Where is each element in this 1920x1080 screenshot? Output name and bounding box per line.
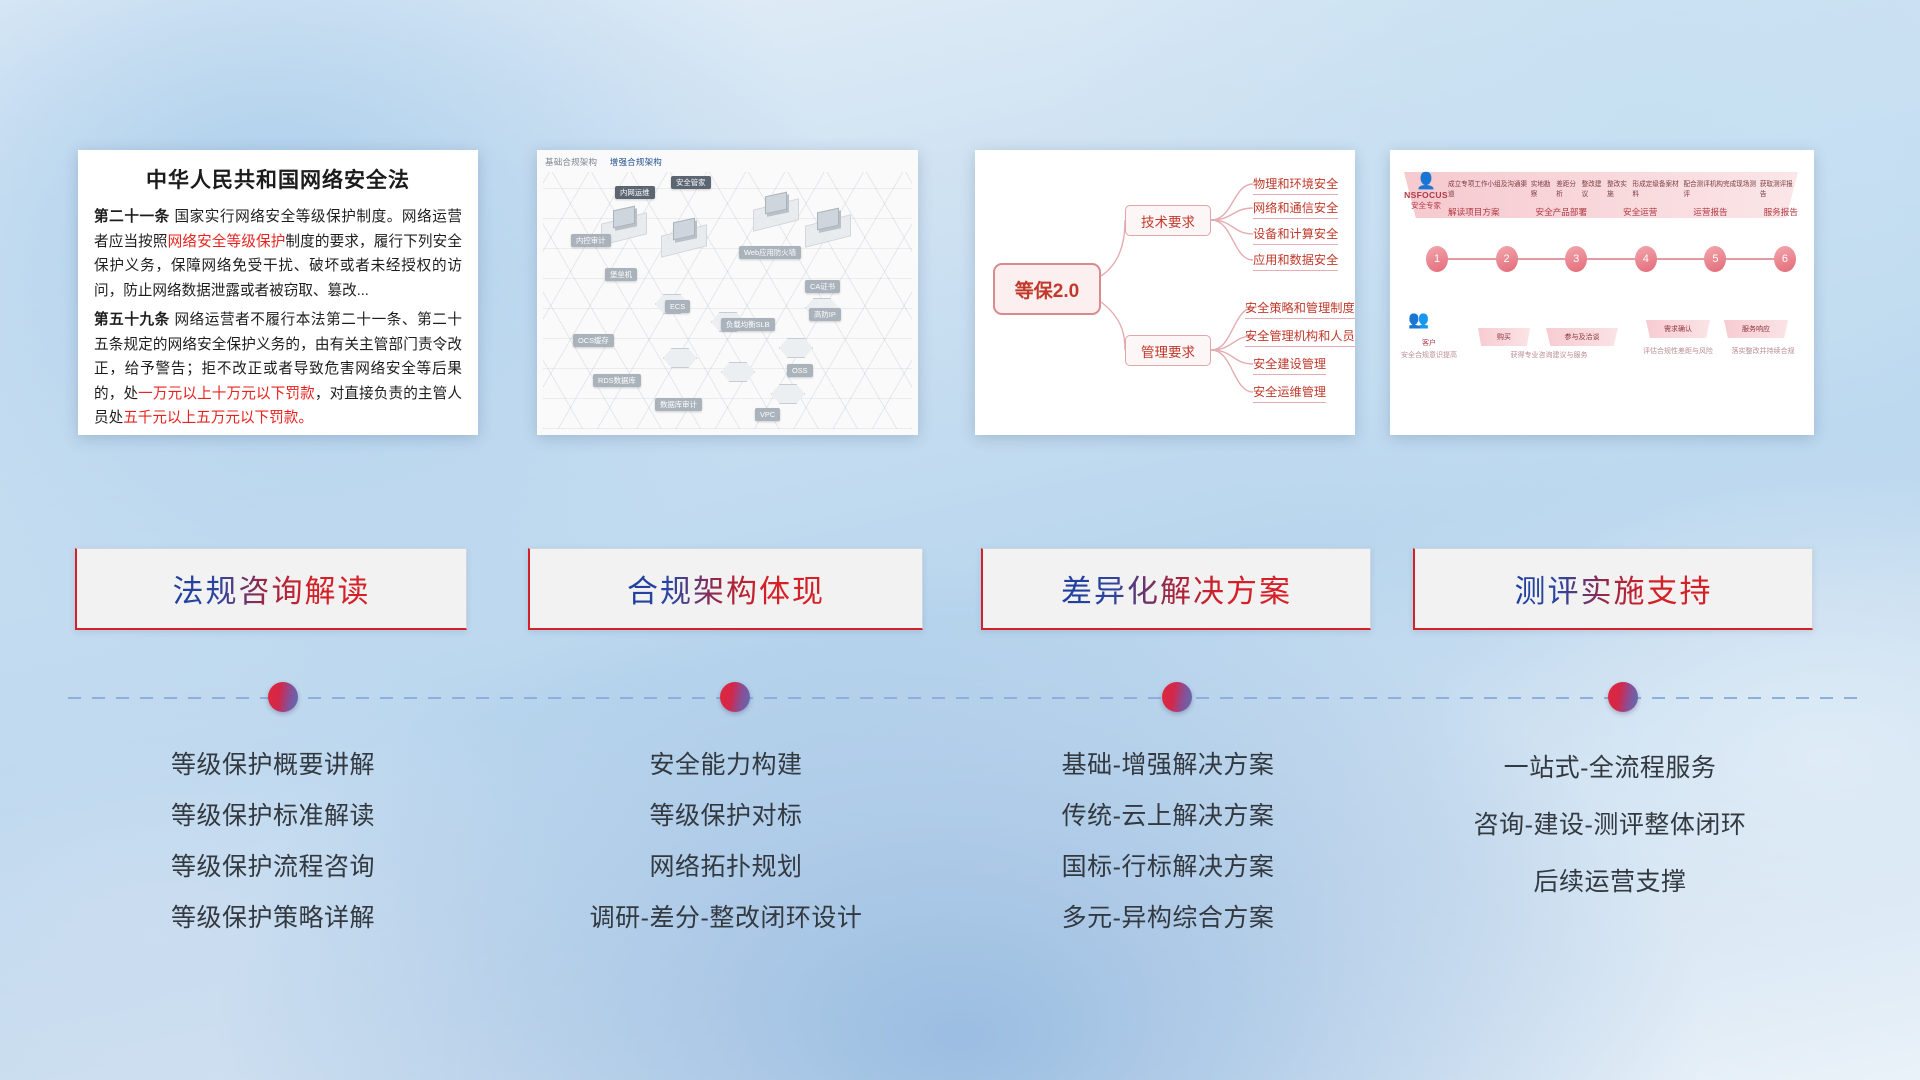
phase-label: 解读项目方案 — [1448, 206, 1500, 218]
node-label: 高防IP — [809, 308, 841, 321]
customer-role-note: 安全合规意识提高 — [1392, 350, 1466, 360]
banner-label: 合规架构体现 — [627, 566, 825, 611]
list-item: 后续运营支撑 — [1400, 854, 1820, 911]
mindmap-leaf: 安全建设管理 — [1253, 354, 1326, 375]
mindmap-leaf: 安全策略和管理制度 — [1245, 298, 1355, 319]
brand-subtitle: 安全专家 — [1404, 200, 1448, 211]
node-label: VPC — [755, 408, 780, 421]
band-item: 实地勘察 — [1531, 178, 1556, 198]
band-item: 获取测评报告 — [1760, 178, 1798, 198]
list-item: 基础-增强解决方案 — [963, 740, 1373, 791]
banner-label: 差异化解决方案 — [1061, 566, 1292, 611]
roadmap-band-items: 成立专项工作小组及沟通渠道 实地勘察 差距分析 整改建议 整改实施 形成定级备案… — [1448, 178, 1798, 198]
roadmap-step-dot: 3 — [1565, 246, 1587, 272]
node-label: ECS — [665, 300, 690, 313]
timeline-dot-4[interactable] — [1608, 682, 1638, 712]
card-cybersecurity-law[interactable]: 中华人民共和国网络安全法 第二十一条 国家实行网络安全等级保护制度。网络运营者应… — [78, 150, 478, 435]
architecture-tab-enhanced[interactable]: 增强合规架构 — [610, 157, 662, 167]
band-item: 差距分析 — [1556, 178, 1581, 198]
hex-grid-background — [543, 172, 912, 429]
roadmap-step-dot: 6 — [1774, 246, 1796, 272]
law-article-59: 第五十九条 网络运营者不履行本法第二十一条、第二十五条规定的网络安全保护义务的，… — [94, 308, 462, 431]
right-action-tag: 服务响应 — [1724, 320, 1788, 338]
node-label: 内控审计 — [571, 234, 611, 247]
node-label: 安全管家 — [671, 176, 711, 189]
feature-column-assessment: 一站式-全流程服务 咨询-建设-测评整体闭环 后续运营支撑 — [1400, 740, 1820, 911]
brand-name: NSFOCUS — [1404, 190, 1448, 200]
feature-column-regulation: 等级保护概要讲解 等级保护标准解读 等级保护流程咨询 等级保护策略详解 — [78, 740, 468, 944]
mindmap-leaf: 安全运维管理 — [1253, 382, 1326, 403]
banner-differentiated-solution[interactable]: 差异化解决方案 — [981, 548, 1371, 630]
node-label: OCS缓存 — [573, 334, 614, 347]
phase-label: 运营报告 — [1693, 206, 1727, 218]
right-action-note: 评估合规性差距与风险 — [1636, 346, 1720, 356]
banner-assessment-support[interactable]: 测评实施支持 — [1413, 548, 1813, 630]
customer-role-label: 客户 — [1400, 338, 1458, 348]
architecture-diagram: 基础合规架构 增强合规架构 内网运维 — [537, 150, 918, 435]
band-item: 配合测评机构完成现场测评 — [1683, 178, 1759, 198]
architecture-tab-basic[interactable]: 基础合规架构 — [545, 157, 597, 167]
node-label: 负载均衡SLB — [721, 318, 775, 331]
right-action-note: 落实整改并持续合规 — [1720, 346, 1806, 356]
band-item: 整改建议 — [1582, 178, 1607, 198]
list-item: 调研-差分-整改闭环设计 — [528, 893, 924, 944]
roadmap-step-dot: 4 — [1635, 246, 1657, 272]
customer-person-icon: 👥 — [1408, 310, 1429, 330]
roadmap-step-dots: 1 2 3 4 5 6 — [1426, 246, 1796, 272]
law-article-21-highlight: 网络安全等级保护 — [168, 234, 286, 250]
band-item: 形成定级备案材料 — [1633, 178, 1684, 198]
roadmap-phase-labels: 解读项目方案 安全产品部署 安全运营 运营报告 服务报告 — [1448, 206, 1798, 218]
node-label: CA证书 — [805, 280, 840, 293]
banner-label: 法规咨询解读 — [173, 566, 371, 611]
mindmap-leaf: 设备和计算安全 — [1253, 224, 1338, 245]
card-compliance-architecture[interactable]: 基础合规架构 增强合规架构 内网运维 — [537, 150, 918, 435]
list-item: 传统-云上解决方案 — [963, 791, 1373, 842]
band-item: 成立专项工作小组及沟通渠道 — [1448, 178, 1531, 198]
list-item: 安全能力构建 — [528, 740, 924, 791]
list-item: 等级保护概要讲解 — [78, 740, 468, 791]
law-title: 中华人民共和国网络安全法 — [94, 164, 462, 194]
law-article-59-highlight-1: 一万元以上十万元以下罚款 — [138, 386, 315, 402]
list-item: 网络拓扑规划 — [528, 842, 924, 893]
card-service-roadmap[interactable]: 👤 NSFOCUS 安全专家 成立专项工作小组及沟通渠道 实地勘察 差距分析 整… — [1390, 150, 1814, 435]
timeline-dot-2[interactable] — [720, 682, 750, 712]
architecture-canvas: 内网运维 安全管家 内控审计 堡垒机 Web应用防火墙 ECS 负载均衡SLB … — [543, 172, 912, 429]
mindmap-root-node: 等保2.0 — [993, 263, 1101, 315]
roadmap-step-dot: 2 — [1496, 246, 1518, 272]
mindmap-diagram: 等保2.0 技术要求 管理要求 物理和环境安全 网络和通信安全 设备和计算安全 … — [975, 150, 1355, 435]
right-action-tag: 需求确认 — [1646, 320, 1710, 338]
mindmap-leaf: 安全管理机构和人员 — [1245, 326, 1355, 347]
banner-compliance-architecture[interactable]: 合规架构体现 — [528, 548, 923, 630]
nsfocus-badge: 👤 NSFOCUS 安全专家 — [1404, 174, 1448, 211]
law-article-21: 第二十一条 国家实行网络安全等级保护制度。网络运营者应当按照网络安全等级保护制度… — [94, 205, 462, 303]
law-article-59-highlight-2: 五千元以上五万元以下罚款。 — [123, 410, 313, 426]
band-item: 整改实施 — [1607, 178, 1632, 198]
roadmap-step-dot: 5 — [1704, 246, 1726, 272]
left-action-note: 获得专业咨询建议与服务 — [1474, 350, 1624, 360]
roadmap-step-dot: 1 — [1426, 246, 1448, 272]
list-item: 国标-行标解决方案 — [963, 842, 1373, 893]
list-item: 等级保护标准解读 — [78, 791, 468, 842]
timeline-dashed-line — [68, 697, 1858, 699]
timeline-dot-3[interactable] — [1162, 682, 1192, 712]
phase-label: 服务报告 — [1764, 206, 1798, 218]
feature-lists: 等级保护概要讲解 等级保护标准解读 等级保护流程咨询 等级保护策略详解 安全能力… — [0, 740, 1920, 1040]
mindmap-branch-management: 管理要求 — [1125, 335, 1211, 366]
list-item: 等级保护对标 — [528, 791, 924, 842]
list-item: 多元-异构综合方案 — [963, 893, 1373, 944]
node-label: 堡垒机 — [605, 268, 637, 281]
node-label: RDS数据库 — [593, 374, 641, 387]
feature-column-solution: 基础-增强解决方案 传统-云上解决方案 国标-行标解决方案 多元-异构综合方案 — [963, 740, 1373, 944]
banner-label: 测评实施支持 — [1515, 566, 1713, 611]
node-label: 内网运维 — [615, 186, 655, 199]
node-label: OSS — [787, 364, 813, 377]
left-action-tag: 购买 — [1478, 328, 1530, 346]
thumbnail-cards-row: 中华人民共和国网络安全法 第二十一条 国家实行网络安全等级保护制度。网络运营者应… — [0, 150, 1920, 440]
banner-regulation-consulting[interactable]: 法规咨询解读 — [75, 548, 467, 630]
law-text-wrapper: 中华人民共和国网络安全法 第二十一条 国家实行网络安全等级保护制度。网络运营者应… — [78, 150, 478, 435]
list-item: 等级保护流程咨询 — [78, 842, 468, 893]
mindmap-leaf: 物理和环境安全 — [1253, 174, 1338, 195]
feature-column-architecture: 安全能力构建 等级保护对标 网络拓扑规划 调研-差分-整改闭环设计 — [528, 740, 924, 944]
timeline — [68, 696, 1858, 700]
architecture-tabbar: 基础合规架构 增强合规架构 — [545, 156, 672, 168]
expert-person-icon: 👤 — [1404, 174, 1448, 190]
mindmap-leaf: 网络和通信安全 — [1253, 198, 1338, 219]
phase-label: 安全运营 — [1623, 206, 1657, 218]
node-label: 数据库审计 — [655, 398, 702, 411]
phase-label: 安全产品部署 — [1535, 206, 1587, 218]
mindmap-branch-technical: 技术要求 — [1125, 205, 1211, 236]
list-item: 等级保护策略详解 — [78, 893, 468, 944]
law-article-21-label: 第二十一条 — [94, 209, 170, 225]
list-item: 咨询-建设-测评整体闭环 — [1400, 797, 1820, 854]
left-action-tag: 参与及洽谈 — [1546, 328, 1618, 346]
roadmap-diagram: 👤 NSFOCUS 安全专家 成立专项工作小组及沟通渠道 实地勘察 差距分析 整… — [1390, 150, 1814, 435]
timeline-dot-1[interactable] — [268, 682, 298, 712]
mindmap-leaf: 应用和数据安全 — [1253, 250, 1338, 271]
node-label: Web应用防火墙 — [739, 246, 801, 259]
law-article-59-label: 第五十九条 — [94, 312, 170, 328]
card-mindmap-dengbao[interactable]: 等保2.0 技术要求 管理要求 物理和环境安全 网络和通信安全 设备和计算安全 … — [975, 150, 1355, 435]
list-item: 一站式-全流程服务 — [1400, 740, 1820, 797]
